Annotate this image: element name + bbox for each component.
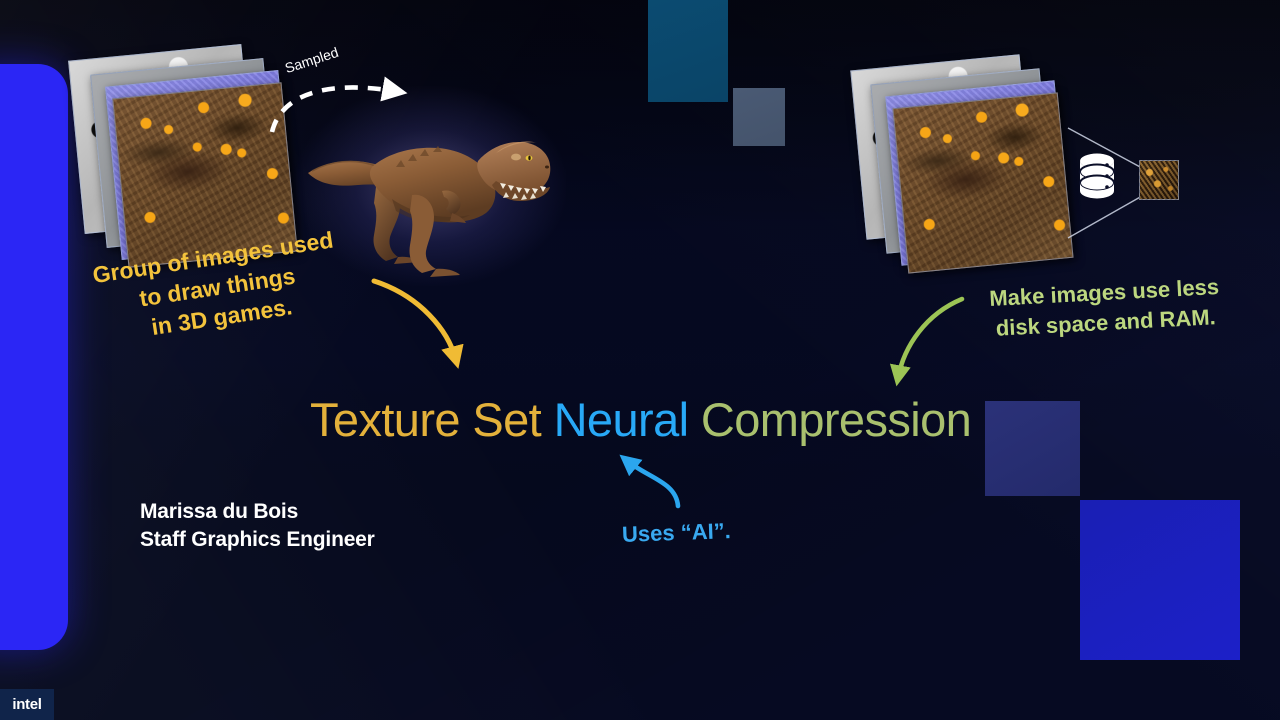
- decorative-square-indigo: [985, 401, 1080, 496]
- green-curved-arrow: [898, 299, 962, 378]
- presenter-block: Marissa du Bois Staff Graphics Engineer: [140, 498, 375, 554]
- texture-layer-albedo: [892, 92, 1073, 273]
- right-annotation-note: Make images use less disk space and RAM.: [989, 272, 1222, 343]
- title-segment-neural: Neural: [554, 393, 701, 446]
- title-segment-compression: Compression: [701, 393, 971, 446]
- presenter-role: Staff Graphics Engineer: [140, 526, 375, 554]
- t-rex-3d-model: [300, 95, 560, 280]
- presentation-slide: Sampled Group of images used to draw thi…: [0, 0, 1280, 720]
- decorative-square-slate: [733, 88, 785, 146]
- database-icon: [1076, 152, 1118, 202]
- decorative-square-teal: [648, 0, 728, 102]
- sampled-label: Sampled: [283, 44, 341, 76]
- intel-logo-text: intel: [12, 696, 41, 713]
- slide-title: Texture Set Neural Compression: [310, 392, 971, 447]
- presenter-name: Marissa du Bois: [140, 498, 375, 526]
- decorative-square-blue: [1080, 500, 1240, 660]
- left-accent-bar: [0, 64, 68, 650]
- compressed-texture-thumbnail: [1139, 160, 1179, 200]
- ai-annotation-note: Uses “AI”.: [622, 518, 732, 548]
- gold-curved-arrow: [374, 281, 456, 360]
- cyan-curved-arrow: [626, 460, 678, 506]
- title-segment-texture-set: Texture Set: [310, 393, 554, 446]
- intel-logo: intel: [0, 689, 54, 720]
